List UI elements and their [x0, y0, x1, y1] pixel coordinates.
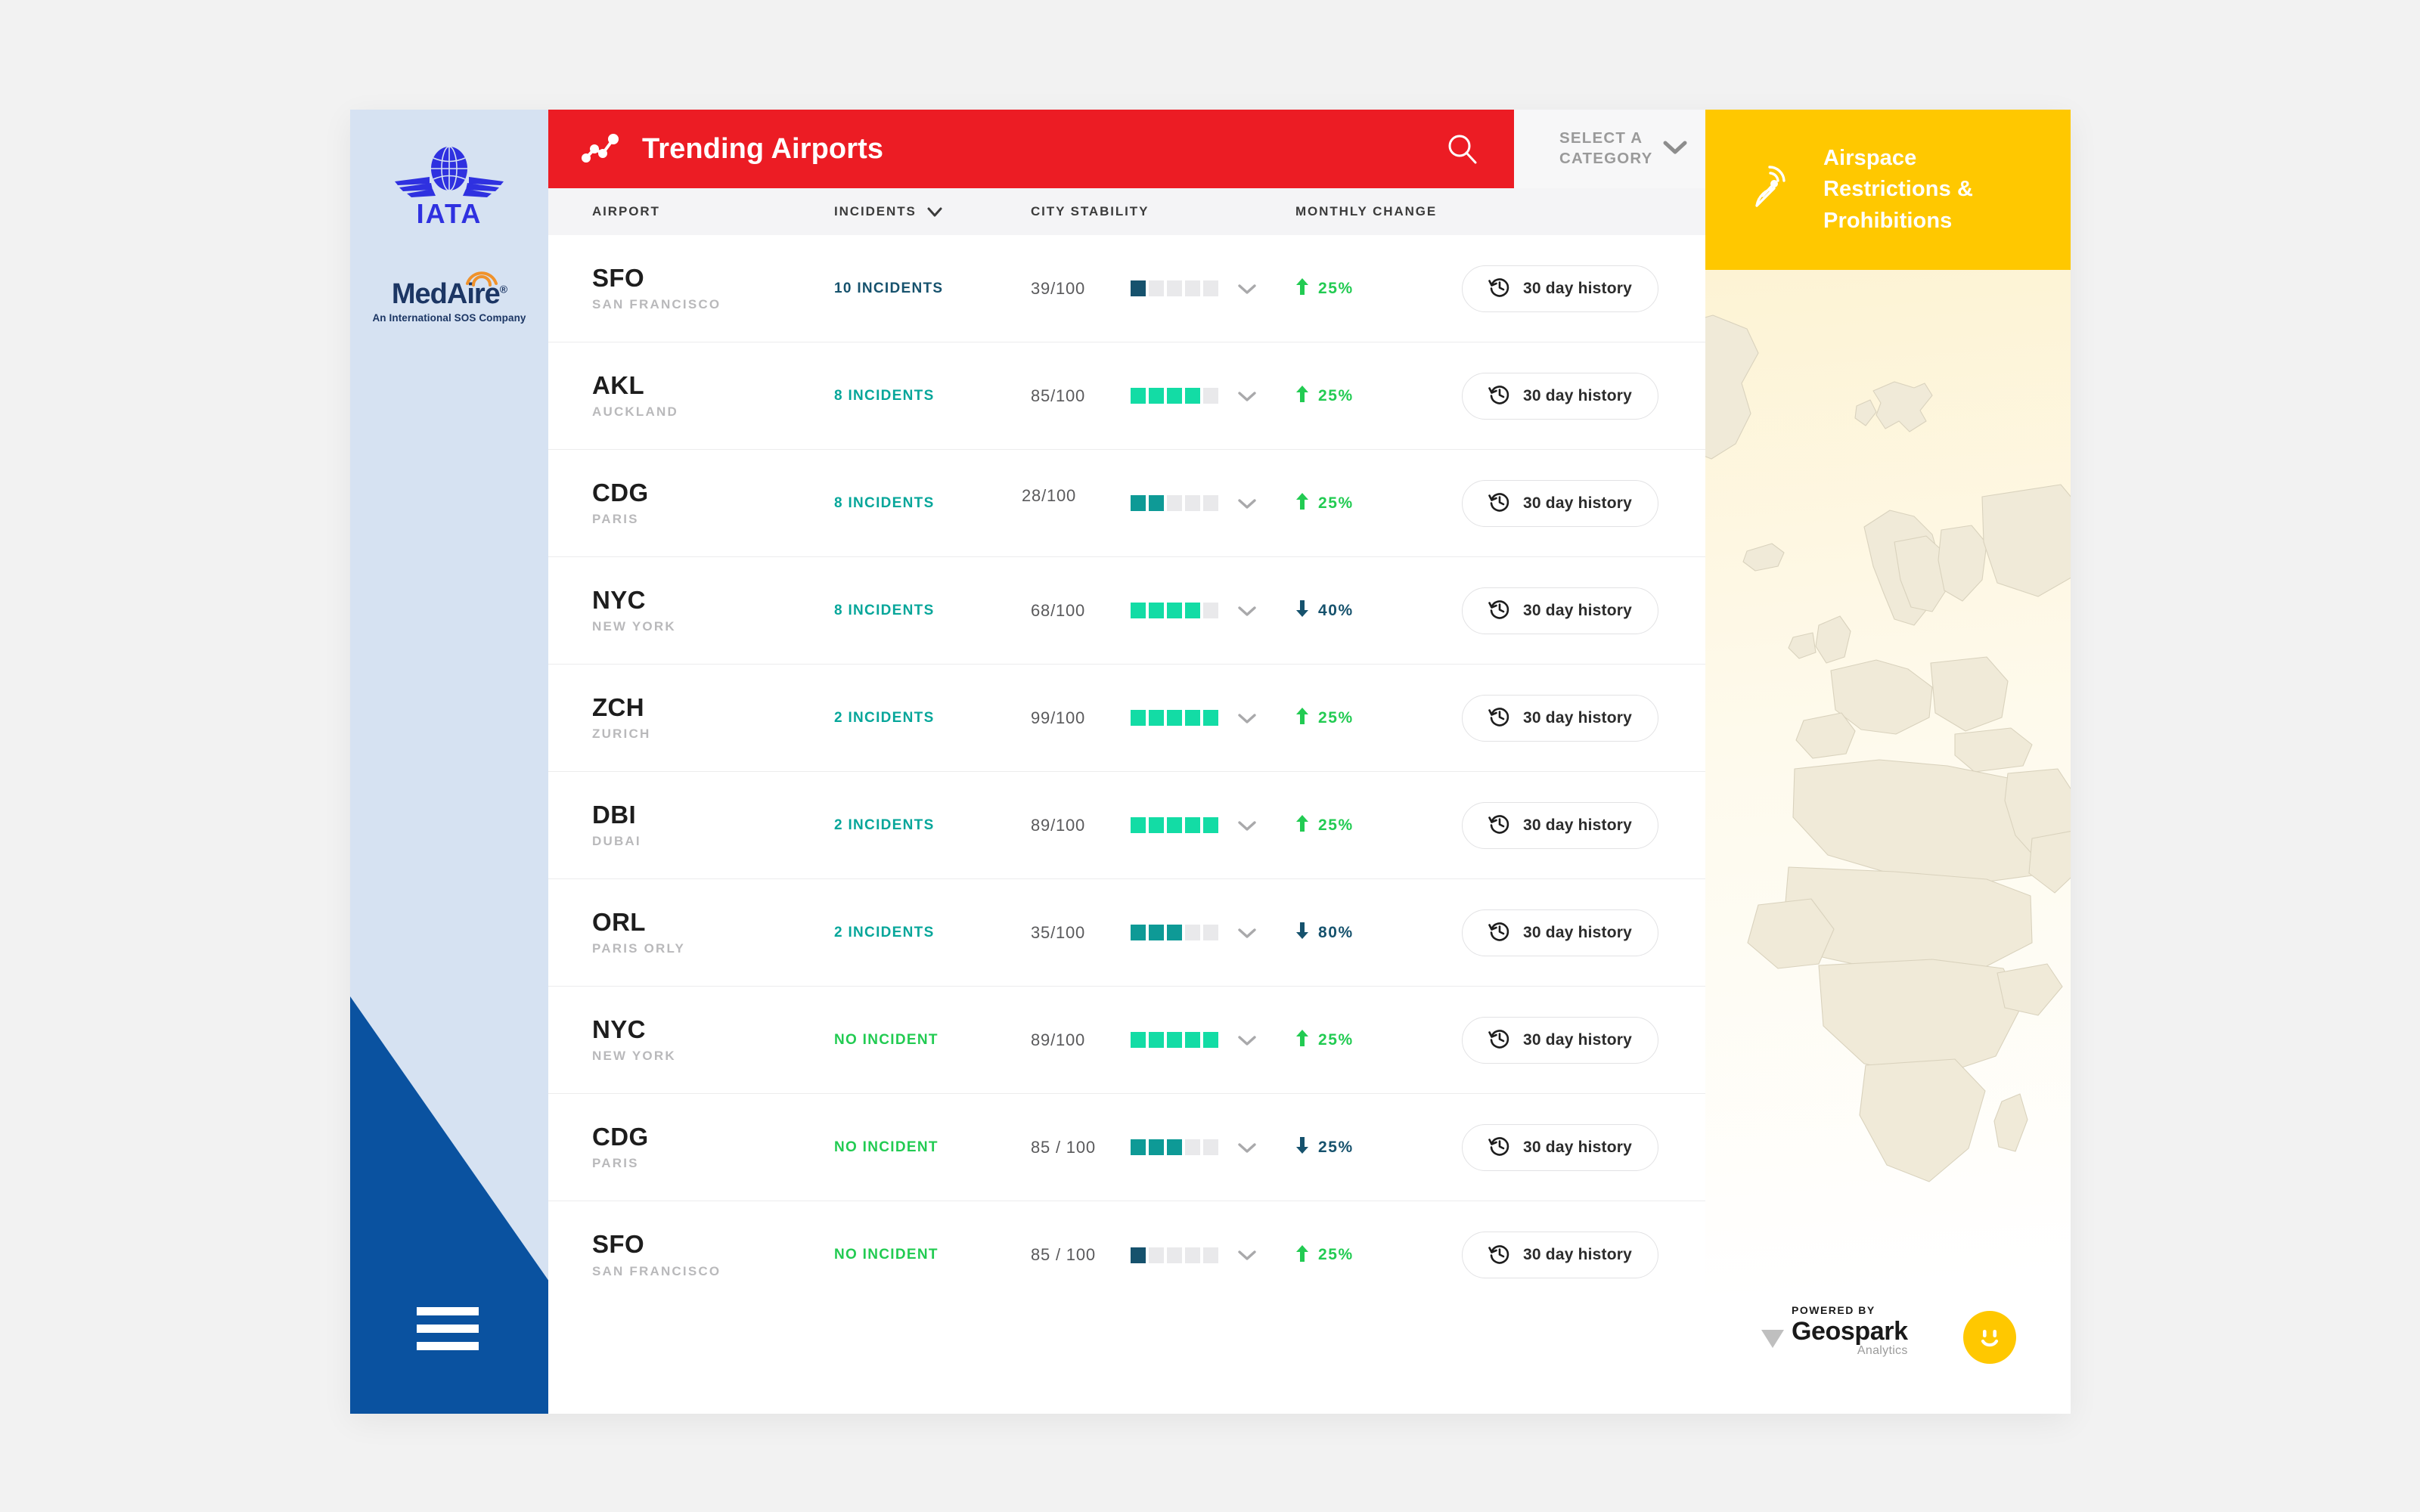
chevron-down-icon[interactable]: [1237, 712, 1257, 724]
smiley-glyph: [1974, 1321, 2006, 1353]
sidebar-blue-wedge: [350, 996, 548, 1414]
column-header-monthly-change: MONTHLY CHANGE: [1295, 204, 1437, 219]
cell-monthly-change: 80%: [1295, 922, 1462, 943]
cell-airport: ZCHZURICH: [592, 694, 834, 742]
cell-incidents: 8 INCIDENTS: [834, 495, 1031, 512]
stability-segment: [1131, 280, 1146, 296]
search-icon[interactable]: [1441, 128, 1484, 170]
incident-count-label: NO INCIDENT: [834, 1247, 939, 1263]
stability-score: 85 / 100: [1031, 1245, 1131, 1265]
stability-bar: [1131, 925, 1218, 940]
geospark-name: Geospark: [1792, 1318, 1908, 1346]
airport-city: DUBAI: [592, 834, 834, 849]
table-row[interactable]: SFOSAN FRANCISCO10 INCIDENTS39/10025%30 …: [548, 235, 1705, 342]
chevron-down-icon[interactable]: [1237, 605, 1257, 617]
cell-action: 30 day history: [1462, 265, 1705, 312]
clock-history-icon: [1488, 1027, 1511, 1052]
airport-code: NYC: [592, 587, 834, 614]
table-row[interactable]: CDGPARISNO INCIDENT85 / 10025%30 day his…: [548, 1094, 1705, 1201]
column-header-incidents-label: INCIDENTS: [834, 204, 917, 219]
airport-code: SFO: [592, 265, 834, 292]
airport-code: CDG: [592, 1123, 834, 1151]
monthly-change-value: 80%: [1318, 924, 1354, 942]
cell-city-stability: 35/100: [1031, 923, 1295, 943]
stability-segment: [1149, 1032, 1164, 1048]
cell-action: 30 day history: [1462, 1017, 1705, 1064]
incident-count-label: 2 INCIDENTS: [834, 710, 935, 726]
cell-action: 30 day history: [1462, 802, 1705, 849]
stability-score: 68/100: [1031, 601, 1131, 621]
screenshot-root: IATA MedAire® An International SOS Compa…: [0, 0, 2420, 1512]
airport-city: ZURICH: [592, 727, 834, 742]
cell-incidents: 2 INCIDENTS: [834, 925, 1031, 941]
column-header-city-stability: CITY STABILITY: [1031, 204, 1295, 219]
main-content: Trending Airports SELECT A CATEGORY: [548, 110, 1705, 1414]
stability-score: 89/100: [1031, 1030, 1131, 1050]
airport-code: DBI: [592, 801, 834, 829]
stability-segment: [1167, 1247, 1182, 1263]
chevron-down-icon[interactable]: [1237, 497, 1257, 510]
stability-segment: [1185, 710, 1200, 726]
chevron-down-icon[interactable]: [1237, 1142, 1257, 1154]
chevron-down-icon[interactable]: [1237, 390, 1257, 402]
stability-segment: [1149, 817, 1164, 833]
medaire-arc-icon: [464, 267, 499, 287]
stability-bar: [1131, 1139, 1218, 1155]
cell-action: 30 day history: [1462, 587, 1705, 634]
cell-city-stability: 68/100: [1031, 601, 1295, 621]
stability-segment: [1167, 925, 1182, 940]
thirty-day-history-button[interactable]: 30 day history: [1462, 909, 1658, 956]
stability-segment: [1203, 1247, 1218, 1263]
thirty-day-history-label: 30 day history: [1523, 280, 1632, 298]
stability-segment: [1149, 710, 1164, 726]
top-bar: Trending Airports SELECT A CATEGORY: [548, 110, 1705, 188]
thirty-day-history-button[interactable]: 30 day history: [1462, 480, 1658, 527]
geospark-sub: Analytics: [1792, 1344, 1908, 1358]
svg-text:IATA: IATA: [417, 198, 482, 227]
stability-score: 28/100: [1022, 486, 1122, 506]
chevron-down-icon: [927, 207, 942, 217]
airport-code: NYC: [592, 1016, 834, 1043]
medaire-logo: MedAire® An International SOS Company: [350, 280, 548, 324]
chevron-down-icon[interactable]: [1237, 283, 1257, 295]
table-row[interactable]: NYCNEW YORKNO INCIDENT89/10025%30 day hi…: [548, 987, 1705, 1094]
stability-segment: [1185, 1247, 1200, 1263]
table-row[interactable]: ORLPARIS ORLY2 INCIDENTS35/10080%30 day …: [548, 879, 1705, 987]
stability-segment: [1203, 925, 1218, 940]
airport-city: SAN FRANCISCO: [592, 1264, 834, 1279]
cell-incidents: 2 INCIDENTS: [834, 710, 1031, 727]
thirty-day-history-label: 30 day history: [1523, 816, 1632, 835]
cell-incidents: 10 INCIDENTS: [834, 280, 1031, 297]
stability-score: 89/100: [1031, 816, 1131, 835]
airspace-title-line2: Restrictions &: [1823, 174, 1973, 205]
cell-monthly-change: 25%: [1295, 814, 1462, 836]
stability-segment: [1131, 925, 1146, 940]
chevron-down-icon[interactable]: [1237, 927, 1257, 939]
cell-incidents: 8 INCIDENTS: [834, 603, 1031, 619]
stability-bar: [1131, 280, 1218, 296]
thirty-day-history-button[interactable]: 30 day history: [1462, 1017, 1658, 1064]
stability-score: 85/100: [1031, 386, 1131, 406]
stability-segment: [1149, 280, 1164, 296]
stability-segment: [1167, 603, 1182, 618]
airport-city: NEW YORK: [592, 1049, 834, 1064]
medaire-registered-mark: ®: [500, 283, 507, 295]
stability-segment: [1203, 710, 1218, 726]
monthly-change-value: 25%: [1318, 1031, 1354, 1049]
cell-action: 30 day history: [1462, 1124, 1705, 1171]
arrow-down-icon: [1295, 600, 1309, 621]
chevron-down-icon[interactable]: [1237, 1249, 1257, 1261]
monthly-change-value: 25%: [1318, 1139, 1354, 1157]
airport-code: CDG: [592, 479, 834, 507]
table-row[interactable]: CDGPARIS8 INCIDENTS28/10025%30 day histo…: [548, 450, 1705, 557]
cell-airport: AKLAUCKLAND: [592, 372, 834, 420]
arrow-up-icon: [1295, 814, 1309, 836]
cell-incidents: NO INCIDENT: [834, 1032, 1031, 1049]
column-header-monthly-change-label: MONTHLY CHANGE: [1295, 204, 1437, 219]
stability-segment: [1185, 925, 1200, 940]
monthly-change-value: 25%: [1318, 1246, 1354, 1264]
monthly-change-value: 25%: [1318, 816, 1354, 835]
smiley-face-icon[interactable]: [1963, 1311, 2016, 1364]
airport-code: ORL: [592, 909, 834, 936]
stability-segment: [1149, 603, 1164, 618]
stability-segment: [1131, 603, 1146, 618]
stability-segment: [1185, 495, 1200, 511]
stability-score: 35/100: [1031, 923, 1131, 943]
cell-monthly-change: 40%: [1295, 600, 1462, 621]
cell-action: 30 day history: [1462, 695, 1705, 742]
stability-segment: [1131, 710, 1146, 726]
airport-city: NEW YORK: [592, 619, 834, 634]
clock-history-icon: [1488, 813, 1511, 838]
stability-score: 99/100: [1031, 708, 1131, 728]
stability-segment: [1167, 280, 1182, 296]
geospark-text-block: POWERED BY Geospark Analytics: [1792, 1305, 1908, 1358]
cell-monthly-change: 25%: [1295, 1136, 1462, 1158]
thirty-day-history-button[interactable]: 30 day history: [1462, 265, 1658, 312]
stability-segment: [1203, 603, 1218, 618]
cell-action: 30 day history: [1462, 480, 1705, 527]
trending-airports-header: Trending Airports: [548, 110, 1514, 188]
cell-city-stability: 85/100: [1031, 386, 1295, 406]
stability-segment: [1203, 388, 1218, 404]
cell-action: 30 day history: [1462, 1232, 1705, 1278]
table-row[interactable]: AKLAUCKLAND8 INCIDENTS85/10025%30 day hi…: [548, 342, 1705, 450]
stability-segment: [1203, 495, 1218, 511]
thirty-day-history-button[interactable]: 30 day history: [1462, 802, 1658, 849]
table-row[interactable]: DBIDUBAI2 INCIDENTS89/10025%30 day histo…: [548, 772, 1705, 879]
stability-segment: [1185, 388, 1200, 404]
cell-incidents: NO INCIDENT: [834, 1139, 1031, 1156]
airspace-title-line3: Prohibitions: [1823, 206, 1973, 237]
clock-history-icon: [1488, 920, 1511, 945]
cell-airport: ORLPARIS ORLY: [592, 909, 834, 956]
table-header-row: AIRPORT INCIDENTS CITY STABILITY MONTHLY…: [548, 188, 1705, 235]
cell-incidents: NO INCIDENT: [834, 1247, 1031, 1263]
monthly-change-value: 25%: [1318, 280, 1354, 298]
stability-segment: [1149, 1247, 1164, 1263]
thirty-day-history-label: 30 day history: [1523, 602, 1632, 620]
stability-bar: [1131, 603, 1218, 618]
arrow-down-icon: [1295, 1136, 1309, 1158]
stability-bar: [1131, 710, 1218, 726]
column-header-airport: AIRPORT: [592, 204, 834, 219]
world-map[interactable]: [1705, 270, 2071, 1414]
stability-segment: [1131, 817, 1146, 833]
airspace-restrictions-header[interactable]: Airspace Restrictions & Prohibitions: [1705, 110, 2071, 270]
airport-city: SAN FRANCISCO: [592, 297, 834, 312]
incident-count-label: 2 INCIDENTS: [834, 817, 935, 833]
stability-segment: [1149, 925, 1164, 940]
app-window: IATA MedAire® An International SOS Compa…: [350, 110, 2071, 1414]
cell-city-stability: 39/100: [1031, 279, 1295, 299]
cell-monthly-change: 25%: [1295, 277, 1462, 299]
column-header-incidents[interactable]: INCIDENTS: [834, 204, 1031, 219]
stability-segment: [1167, 495, 1182, 511]
arrow-up-icon: [1295, 385, 1309, 407]
medaire-wordmark-wrap: MedAire®: [392, 280, 507, 308]
cell-airport: NYCNEW YORK: [592, 587, 834, 634]
stability-segment: [1185, 603, 1200, 618]
category-select-label: SELECT A CATEGORY: [1559, 129, 1661, 169]
cell-airport: NYCNEW YORK: [592, 1016, 834, 1064]
right-panel: Airspace Restrictions & Prohibitions: [1705, 110, 2071, 1414]
incident-count-label: 8 INCIDENTS: [834, 495, 935, 511]
airport-city: PARIS ORLY: [592, 941, 834, 956]
chevron-down-icon[interactable]: [1237, 1034, 1257, 1046]
stability-segment: [1131, 1247, 1146, 1263]
stability-segment: [1185, 1032, 1200, 1048]
stability-bar: [1131, 388, 1218, 404]
stability-bar: [1131, 1032, 1218, 1048]
cell-airport: SFOSAN FRANCISCO: [592, 1231, 834, 1278]
cell-action: 30 day history: [1462, 373, 1705, 420]
incident-count-label: NO INCIDENT: [834, 1032, 939, 1048]
table-row[interactable]: NYCNEW YORK8 INCIDENTS68/10040%30 day hi…: [548, 557, 1705, 665]
airport-table-body: SFOSAN FRANCISCO10 INCIDENTS39/10025%30 …: [548, 235, 1705, 1414]
clock-history-icon: [1488, 1243, 1511, 1268]
cell-city-stability: 89/100: [1031, 1030, 1295, 1050]
monthly-change-value: 40%: [1318, 602, 1354, 620]
thirty-day-history-label: 30 day history: [1523, 1246, 1632, 1264]
arrow-up-icon: [1295, 277, 1309, 299]
stability-segment: [1167, 1139, 1182, 1155]
clock-history-icon: [1488, 383, 1511, 408]
chevron-down-icon: [1661, 139, 1689, 160]
airport-code: SFO: [592, 1231, 834, 1258]
incident-count-label: NO INCIDENT: [834, 1139, 939, 1155]
geospark-powered-by: POWERED BY: [1792, 1305, 1908, 1315]
stability-segment: [1185, 817, 1200, 833]
trending-line-chart-icon: [580, 131, 619, 168]
arrow-up-icon: [1295, 492, 1309, 514]
cell-airport: SFOSAN FRANCISCO: [592, 265, 834, 312]
monthly-change-value: 25%: [1318, 494, 1354, 513]
cell-city-stability: 99/100: [1031, 708, 1295, 728]
stability-score: 39/100: [1031, 279, 1131, 299]
airport-city: PARIS: [592, 512, 834, 527]
cell-incidents: 2 INCIDENTS: [834, 817, 1031, 834]
stability-segment: [1131, 1139, 1146, 1155]
stability-segment: [1185, 280, 1200, 296]
cell-city-stability: 85 / 100: [1031, 1138, 1295, 1157]
iata-logo: IATA: [350, 144, 548, 227]
incident-count-label: 10 INCIDENTS: [834, 280, 943, 296]
cell-monthly-change: 25%: [1295, 1029, 1462, 1051]
iata-logo-mark: IATA: [386, 144, 513, 227]
left-sidebar: IATA MedAire® An International SOS Compa…: [350, 110, 548, 1414]
stability-segment: [1167, 710, 1182, 726]
cell-city-stability: 85 / 100: [1031, 1245, 1295, 1265]
geospark-branding: POWERED BY Geospark Analytics: [1761, 1305, 1908, 1358]
table-row[interactable]: SFOSAN FRANCISCONO INCIDENT85 / 10025%30…: [548, 1201, 1705, 1309]
airport-city: PARIS: [592, 1156, 834, 1171]
hamburger-bar: [417, 1342, 479, 1350]
cell-city-stability: 89/100: [1031, 816, 1295, 835]
cell-airport: DBIDUBAI: [592, 801, 834, 849]
stability-bar: [1131, 495, 1218, 511]
cell-incidents: 8 INCIDENTS: [834, 388, 1031, 404]
stability-segment: [1167, 817, 1182, 833]
airport-code: AKL: [592, 372, 834, 399]
incident-count-label: 2 INCIDENTS: [834, 925, 935, 940]
thirty-day-history-label: 30 day history: [1523, 494, 1632, 513]
stability-bar: [1131, 1247, 1218, 1263]
column-header-city-stability-label: CITY STABILITY: [1031, 204, 1149, 219]
cell-city-stability: 28/100: [1031, 494, 1295, 513]
arrow-down-icon: [1295, 922, 1309, 943]
stability-bar: [1131, 817, 1218, 833]
clock-history-icon: [1488, 491, 1511, 516]
thirty-day-history-label: 30 day history: [1523, 1031, 1632, 1049]
clock-history-icon: [1488, 598, 1511, 623]
monthly-change-value: 25%: [1318, 709, 1354, 727]
thirty-day-history-button[interactable]: 30 day history: [1462, 695, 1658, 742]
thirty-day-history-label: 30 day history: [1523, 709, 1632, 727]
chevron-down-icon[interactable]: [1237, 820, 1257, 832]
medaire-tagline: An International SOS Company: [350, 312, 548, 324]
cell-airport: CDGPARIS: [592, 479, 834, 527]
hamburger-bar: [417, 1325, 479, 1333]
stability-segment: [1203, 1032, 1218, 1048]
thirty-day-history-button[interactable]: 30 day history: [1462, 373, 1658, 420]
clock-history-icon: [1488, 276, 1511, 301]
airspace-restrictions-title: Airspace Restrictions & Prohibitions: [1823, 143, 1973, 237]
thirty-day-history-label: 30 day history: [1523, 924, 1632, 942]
cell-monthly-change: 25%: [1295, 385, 1462, 407]
stability-segment: [1149, 495, 1164, 511]
thirty-day-history-label: 30 day history: [1523, 387, 1632, 405]
hamburger-bar: [417, 1307, 479, 1315]
stability-segment: [1149, 388, 1164, 404]
stability-score: 85 / 100: [1031, 1138, 1131, 1157]
stability-segment: [1185, 1139, 1200, 1155]
stability-segment: [1131, 495, 1146, 511]
airspace-title-line1: Airspace: [1823, 143, 1973, 174]
incident-count-label: 8 INCIDENTS: [834, 388, 935, 404]
world-map-outlines: [1705, 270, 2071, 1414]
stability-segment: [1149, 1139, 1164, 1155]
cell-monthly-change: 25%: [1295, 492, 1462, 514]
hamburger-menu-icon[interactable]: [417, 1307, 479, 1350]
cell-airport: CDGPARIS: [592, 1123, 834, 1171]
stability-segment: [1131, 388, 1146, 404]
airport-city: AUCKLAND: [592, 404, 834, 420]
triangle-logo-icon: [1761, 1330, 1784, 1348]
arrow-up-icon: [1295, 1244, 1309, 1266]
thirty-day-history-button[interactable]: 30 day history: [1462, 1232, 1658, 1278]
cell-monthly-change: 25%: [1295, 1244, 1462, 1266]
cell-action: 30 day history: [1462, 909, 1705, 956]
clock-history-icon: [1488, 1135, 1511, 1160]
stability-segment: [1167, 1032, 1182, 1048]
incident-count-label: 8 INCIDENTS: [834, 603, 935, 618]
category-select[interactable]: SELECT A CATEGORY: [1514, 110, 1705, 188]
satellite-dish-icon: [1751, 165, 1798, 215]
airport-code: ZCH: [592, 694, 834, 721]
clock-history-icon: [1488, 705, 1511, 730]
cell-monthly-change: 25%: [1295, 707, 1462, 729]
stability-segment: [1203, 817, 1218, 833]
stability-segment: [1131, 1032, 1146, 1048]
thirty-day-history-button[interactable]: 30 day history: [1462, 1124, 1658, 1171]
table-row[interactable]: ZCHZURICH2 INCIDENTS99/10025%30 day hist…: [548, 665, 1705, 772]
thirty-day-history-label: 30 day history: [1523, 1139, 1632, 1157]
thirty-day-history-button[interactable]: 30 day history: [1462, 587, 1658, 634]
stability-segment: [1167, 388, 1182, 404]
page-title: Trending Airports: [642, 133, 1441, 166]
column-header-airport-label: AIRPORT: [592, 204, 660, 219]
monthly-change-value: 25%: [1318, 387, 1354, 405]
arrow-up-icon: [1295, 707, 1309, 729]
stability-segment: [1203, 280, 1218, 296]
arrow-up-icon: [1295, 1029, 1309, 1051]
stability-segment: [1203, 1139, 1218, 1155]
